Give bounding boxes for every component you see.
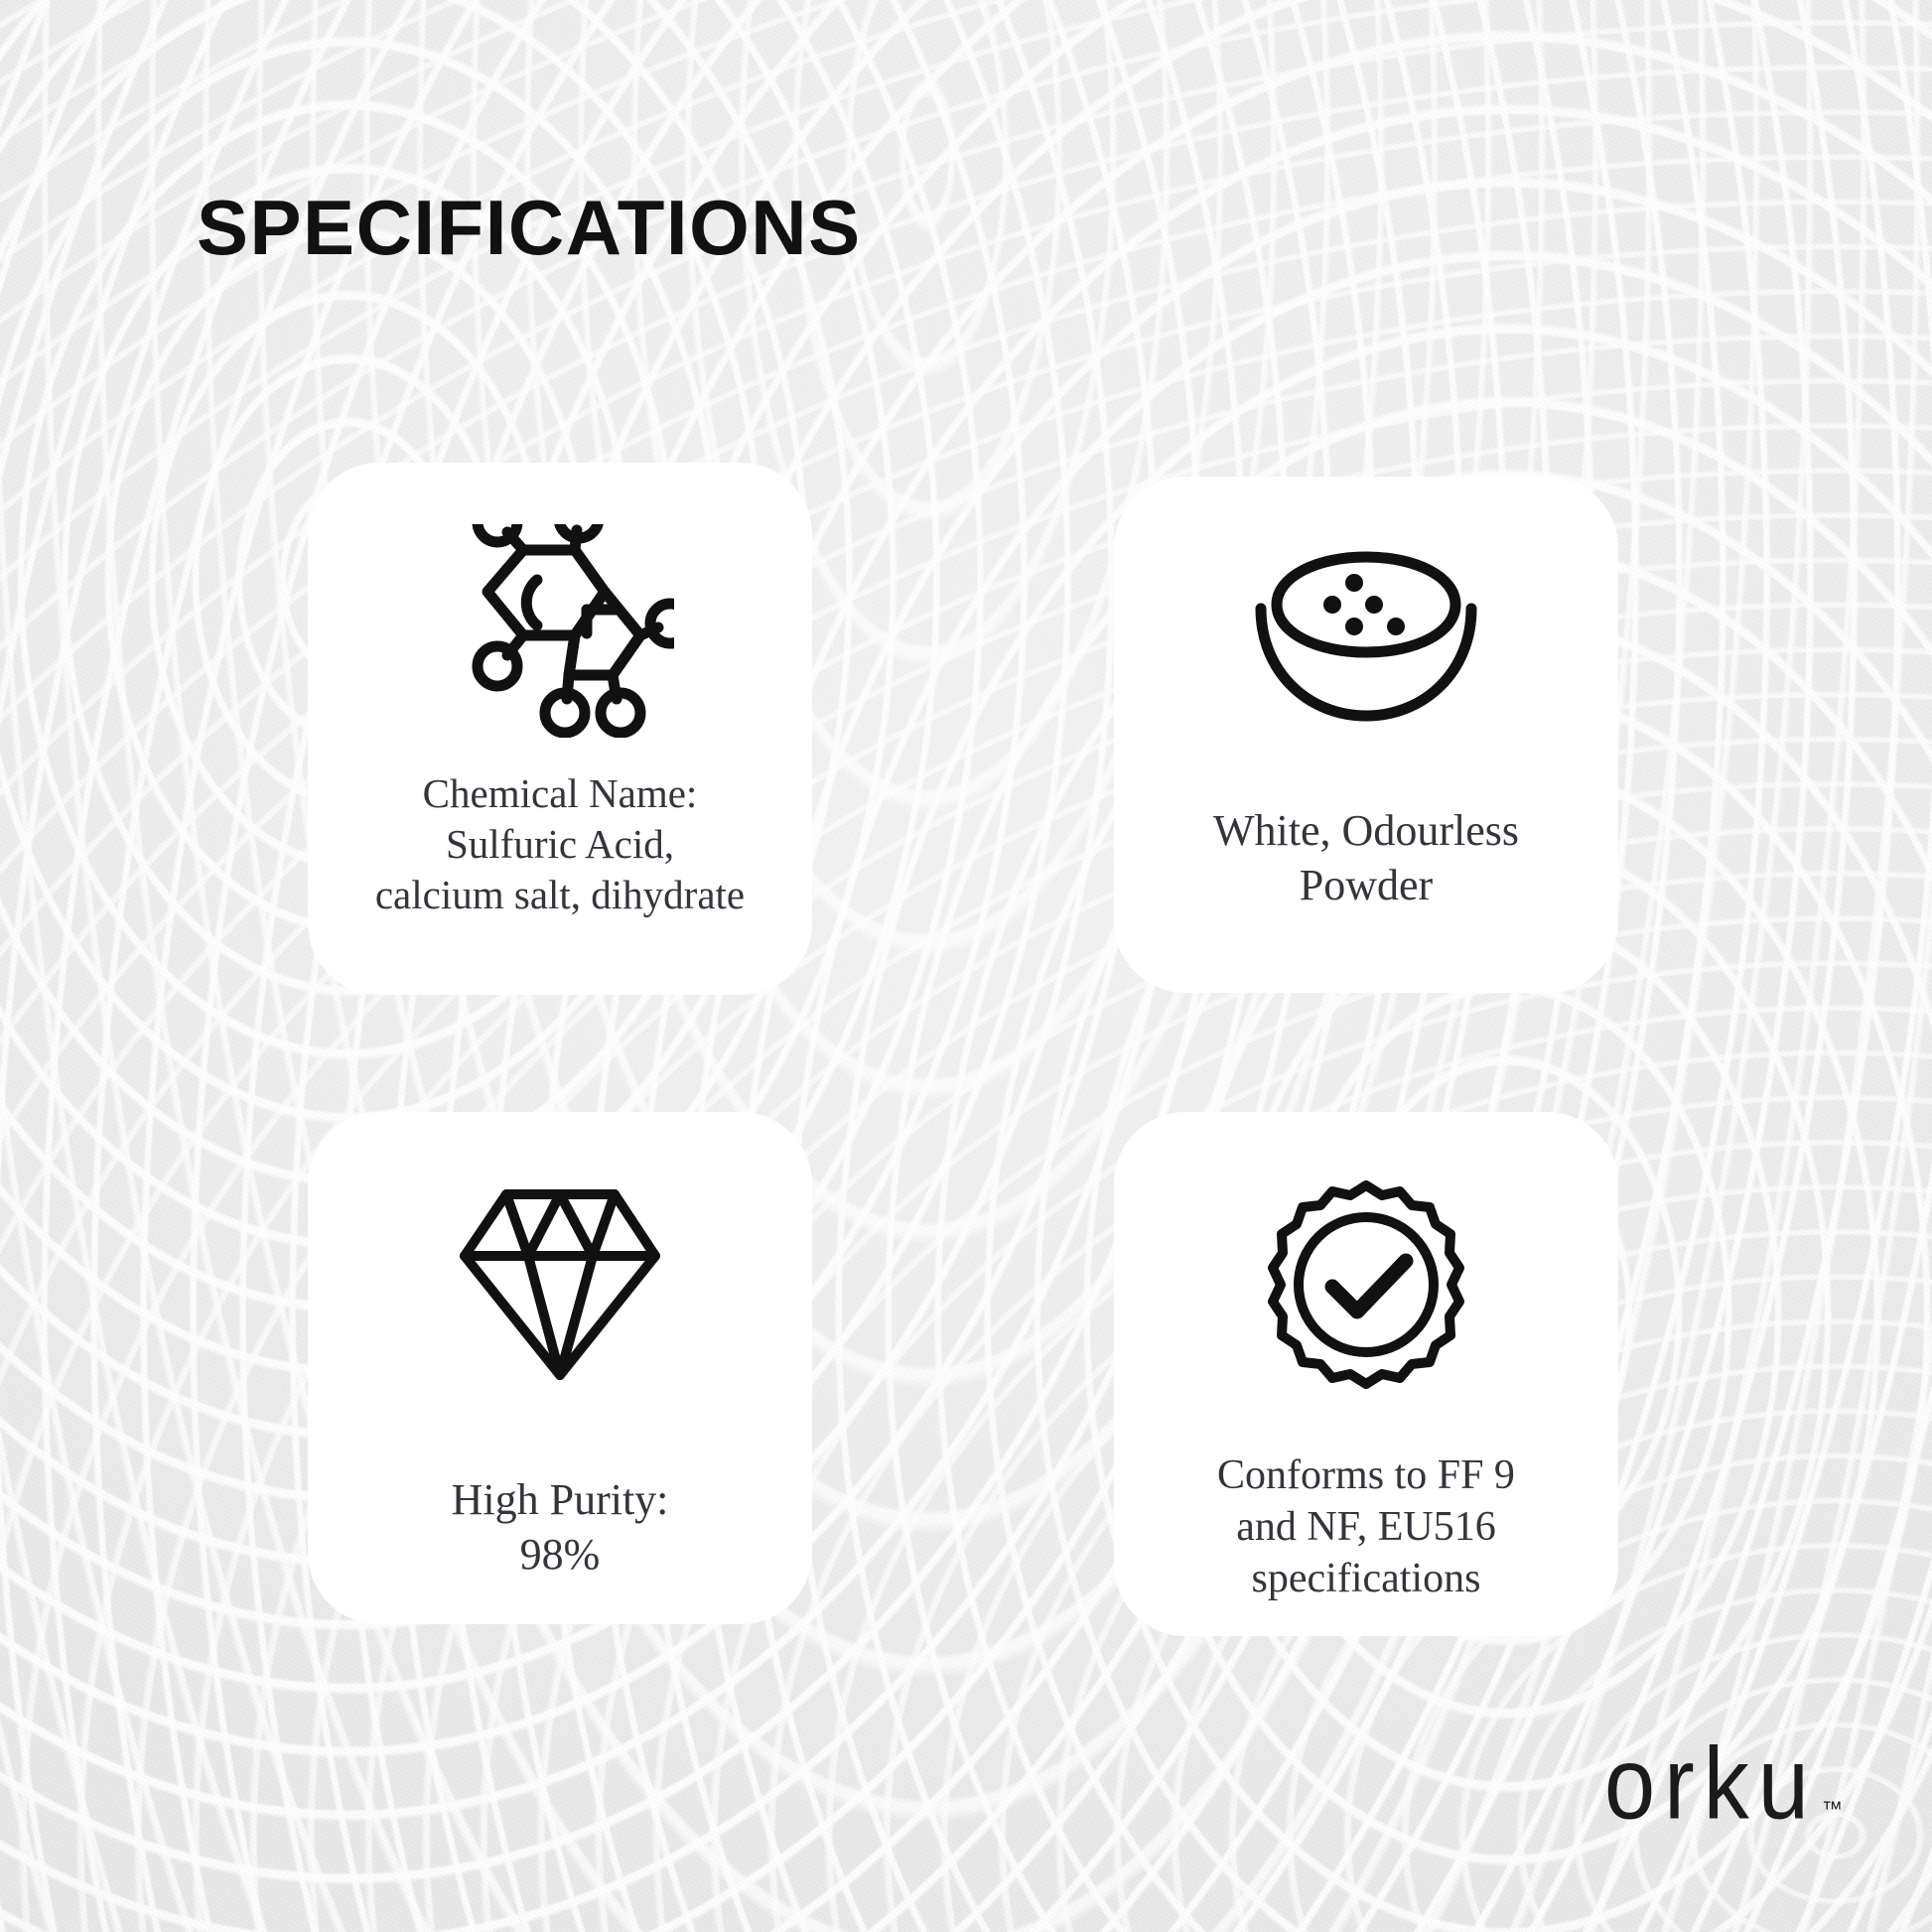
specifications-grid: Chemical Name: Sulfuric Acid, calcium sa… — [0, 0, 1932, 1932]
spec-line: Chemical Name: — [322, 768, 798, 819]
spec-line: calcium salt, dihydrate — [322, 870, 798, 920]
spec-line: High Purity: — [322, 1473, 798, 1528]
spec-line: specifications — [1128, 1553, 1604, 1604]
spec-card-compliance: Conforms to FF 9 and NF, EU516 specifica… — [1114, 1112, 1618, 1636]
powder-bowl-icon — [1114, 477, 1618, 759]
spec-card-text: Conforms to FF 9 and NF, EU516 specifica… — [1114, 1449, 1618, 1604]
spec-line: White, Odourless — [1128, 804, 1604, 859]
spec-line: Sulfuric Acid, — [322, 819, 798, 870]
spec-line: Conforms to FF 9 — [1128, 1449, 1604, 1501]
certified-badge-icon — [1114, 1112, 1618, 1414]
brand-logo: orku ™ — [1604, 1747, 1843, 1832]
brand-logo-wordmark: orku — [1604, 1737, 1818, 1832]
molecule-icon — [308, 463, 812, 755]
spec-card-chemical-name: Chemical Name: Sulfuric Acid, calcium sa… — [308, 463, 812, 995]
spec-line: Powder — [1128, 859, 1604, 913]
spec-line: and NF, EU516 — [1128, 1501, 1604, 1553]
diamond-icon — [308, 1112, 812, 1408]
spec-card-appearance: White, Odourless Powder — [1114, 477, 1618, 993]
trademark-icon: ™ — [1822, 1798, 1843, 1822]
spec-line: 98% — [322, 1528, 798, 1583]
spec-card-text: High Purity: 98% — [308, 1473, 812, 1582]
spec-card-text: White, Odourless Powder — [1114, 804, 1618, 912]
spec-card-purity: High Purity: 98% — [308, 1112, 812, 1624]
spec-card-text: Chemical Name: Sulfuric Acid, calcium sa… — [308, 768, 812, 919]
